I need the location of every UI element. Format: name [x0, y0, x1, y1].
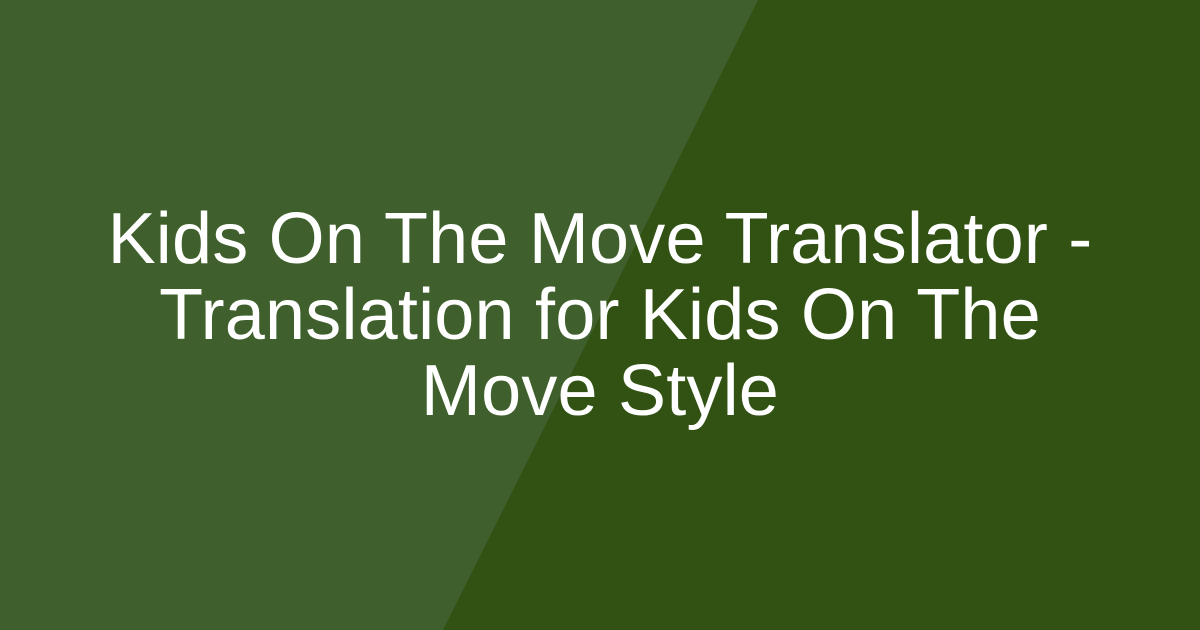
page-title: Kids On The Move Translator - Translatio…	[64, 201, 1136, 430]
og-share-card: Kids On The Move Translator - Translatio…	[0, 0, 1200, 630]
title-container: Kids On The Move Translator - Translatio…	[0, 0, 1200, 630]
